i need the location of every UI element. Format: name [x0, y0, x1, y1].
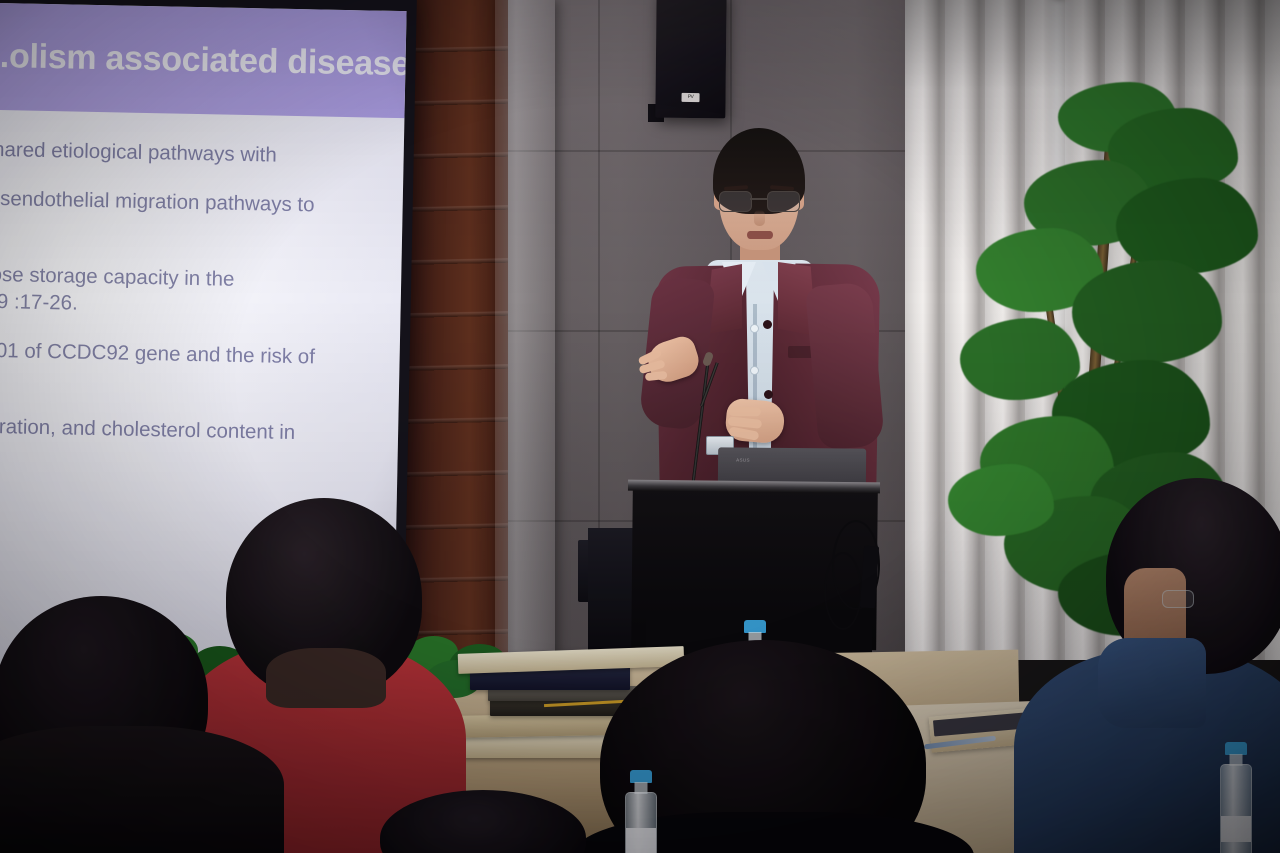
slide-reference-2: transendothelial migration pathways to . — [0, 184, 393, 247]
shirt-button — [750, 366, 759, 375]
bottle-label — [1221, 816, 1251, 842]
shirt-button — [750, 324, 759, 333]
conference-photo: PV ...olism associated diseases d shared… — [0, 0, 1280, 853]
slide-title: ...olism associated diseases — [0, 35, 407, 85]
water-bottle[interactable] — [624, 770, 658, 853]
wall-speaker: PV — [655, 0, 726, 118]
slide-reference-4: 57401 of CCDC92 gene and the risk of 28. — [0, 337, 390, 400]
attendee-long-hair-foreground-left — [0, 596, 270, 853]
jacket-button — [764, 390, 773, 399]
eyeglasses-icon — [1162, 590, 1194, 608]
jacket-button — [763, 320, 772, 329]
wall-pillar — [495, 0, 555, 690]
attendee-bottom-center — [380, 790, 580, 853]
slide-title-band: ...olism associated diseases — [0, 1, 407, 118]
slide-reference-5: centration, and cholesterol content in 3… — [0, 413, 388, 476]
arm-right — [805, 281, 885, 450]
laptop-brand-logo: ASUS — [736, 458, 750, 463]
slide-reference-1: d shared etiological pathways with — [0, 135, 394, 171]
water-bottle[interactable] — [1218, 742, 1254, 853]
speaker-brand-badge: PV — [681, 93, 699, 102]
eyeglasses-icon — [718, 191, 800, 210]
forearm — [1098, 638, 1206, 728]
power-cable — [824, 552, 862, 630]
nose — [754, 210, 765, 226]
bottle-label — [626, 828, 656, 853]
mouth — [747, 231, 773, 239]
slide-reference-3: dipose storage capacity in the n; 49 :17… — [0, 260, 391, 323]
